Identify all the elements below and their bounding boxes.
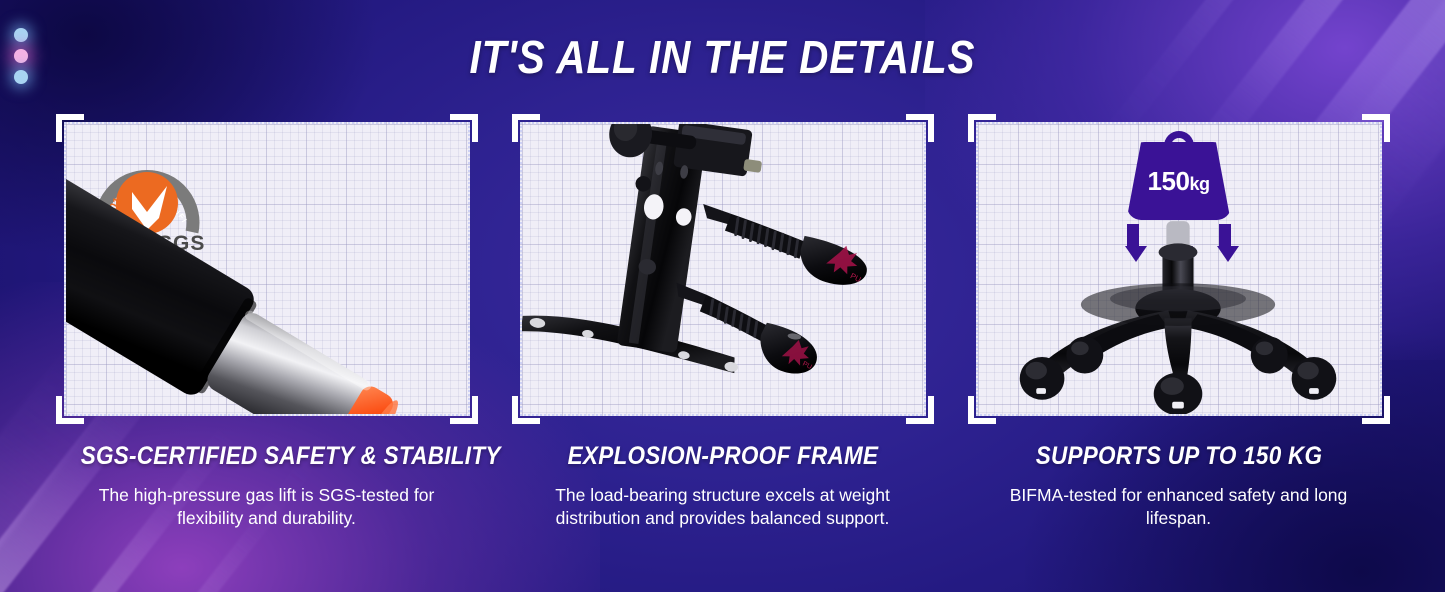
- chair-base-image: [978, 124, 1380, 416]
- frame-corner-bottom-right: [906, 396, 934, 424]
- card-image-frame: PU: [516, 118, 930, 420]
- frame-corner-top-right: [450, 114, 478, 142]
- frame-corner-top-left: [56, 114, 84, 142]
- card-image-frame: SYSTEM CERTIFICATION ISO 9001 SGS: [60, 118, 474, 420]
- frame-corner-bottom-left: [56, 396, 84, 424]
- frame-corner-bottom-right: [450, 396, 478, 424]
- feature-card-capacity: 150kg SUPPORTS UP TO 150 KG BIFMA-tested…: [972, 118, 1386, 530]
- feature-card-sgs: SYSTEM CERTIFICATION ISO 9001 SGS SGS-CE…: [60, 118, 474, 530]
- frame-corner-top-right: [906, 114, 934, 142]
- card-title: SGS-CERTIFIED SAFETY & STABILITY: [80, 442, 453, 471]
- frame-corner-top-left: [512, 114, 540, 142]
- feature-cards-row: SYSTEM CERTIFICATION ISO 9001 SGS SGS-CE…: [0, 118, 1445, 530]
- frame-corner-bottom-right: [1362, 396, 1390, 424]
- card-description: The load-bearing structure excels at wei…: [516, 484, 930, 530]
- frame-corner-top-right: [1362, 114, 1390, 142]
- card-image-grid-background: 150kg: [976, 122, 1382, 416]
- dot-blue-bottom-icon: [14, 70, 28, 84]
- card-image-frame: 150kg: [972, 118, 1386, 420]
- decorative-dots-group: [14, 28, 36, 91]
- card-title: EXPLOSION-PROOF FRAME: [536, 442, 909, 471]
- frame-corner-top-left: [968, 114, 996, 142]
- card-description: The high-pressure gas lift is SGS-tested…: [60, 484, 474, 530]
- card-image-grid-background: SYSTEM CERTIFICATION ISO 9001 SGS: [64, 122, 470, 416]
- product-feature-banner: IT'S ALL IN THE DETAILS: [0, 0, 1445, 592]
- frame-corner-bottom-left: [968, 396, 996, 424]
- card-description: BIFMA-tested for enhanced safety and lon…: [972, 484, 1386, 530]
- dot-blue-top-icon: [14, 28, 28, 42]
- card-image-grid-background: PU: [520, 122, 926, 416]
- frame-corner-bottom-left: [512, 396, 540, 424]
- card-title: SUPPORTS UP TO 150 KG: [992, 442, 1365, 471]
- page-title: IT'S ALL IN THE DETAILS: [87, 30, 1359, 84]
- dot-pink-middle-icon: [14, 49, 28, 63]
- chair-tilt-mechanism-image: PU: [522, 124, 924, 416]
- gas-lift-cylinder-image: [66, 124, 468, 416]
- feature-card-frame: PU: [516, 118, 930, 530]
